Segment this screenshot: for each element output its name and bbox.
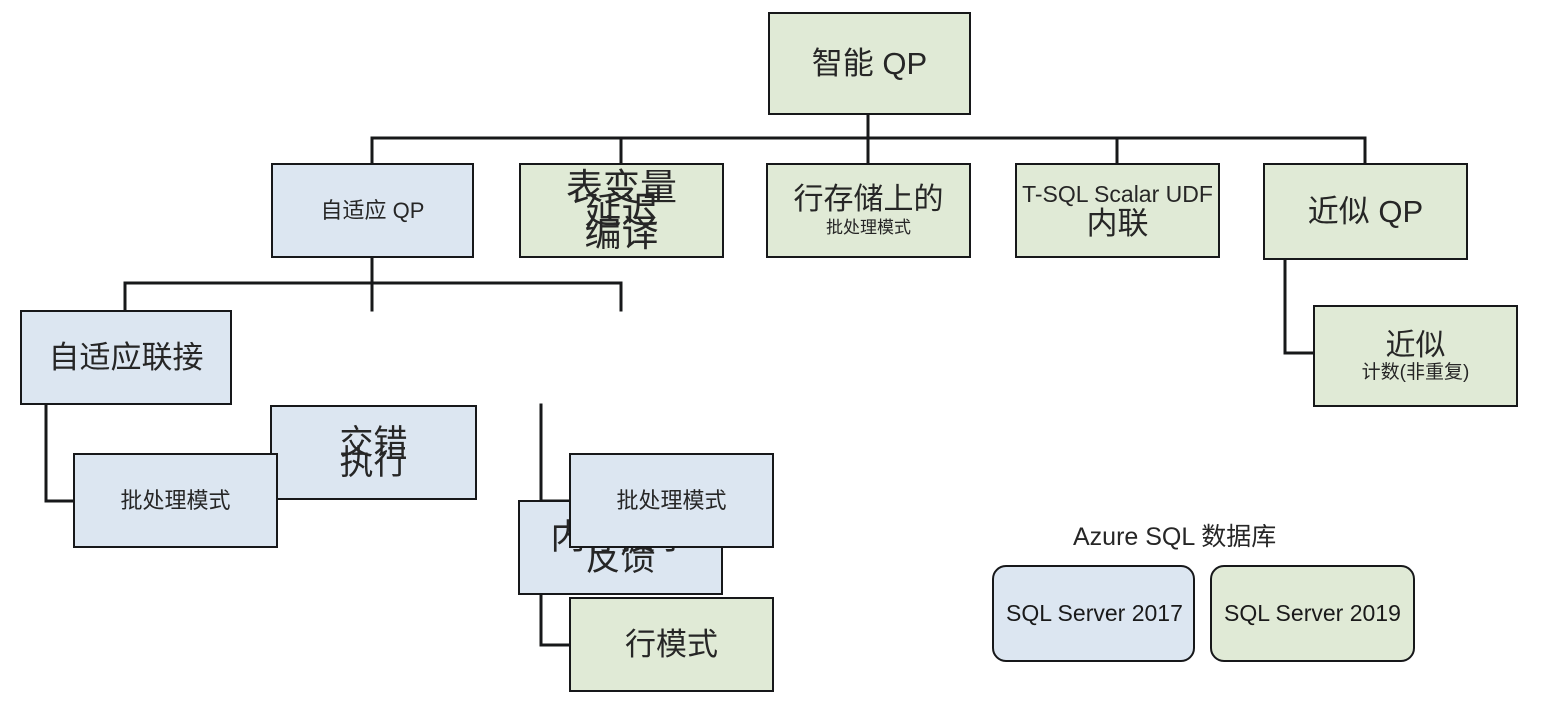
node-label: 近似 QP (1308, 196, 1423, 227)
node-label-line2: 执行 (340, 446, 408, 480)
node-table-variable-deferred-compilation[interactable]: 表变量 延迟 编译 (519, 163, 724, 258)
node-interleaved-execution[interactable]: 交错 执行 (270, 405, 477, 500)
node-batch-mode-on-rowstore[interactable]: 行存储上的 批处理模式 (766, 163, 971, 258)
diagram-canvas: 智能 QP 自适应 QP 表变量 延迟 编译 行存储上的 批处理模式 T-SQL… (0, 0, 1543, 713)
legend-item-sql-server-2019[interactable]: SQL Server 2019 (1210, 565, 1415, 662)
node-adaptive-joins[interactable]: 自适应联接 (20, 310, 232, 405)
node-label: 批处理模式 (120, 490, 230, 512)
node-label: 批处理模式 (616, 490, 726, 512)
node-label: 智能 QP (812, 48, 927, 79)
node-label: 自适应联接 (49, 342, 204, 373)
legend-item-sql-server-2017[interactable]: SQL Server 2017 (992, 565, 1195, 662)
node-label-line2: 内联 (1087, 208, 1149, 239)
node-label-line1: T-SQL Scalar UDF (1022, 183, 1213, 206)
node-memory-grant-batch-mode[interactable]: 批处理模式 (569, 453, 774, 548)
legend-item-label: SQL Server 2019 (1224, 600, 1401, 627)
node-label: 自适应 QP (321, 200, 425, 222)
legend-item-label: SQL Server 2017 (1006, 600, 1183, 627)
node-tsql-scalar-udf-inlining[interactable]: T-SQL Scalar UDF 内联 (1015, 163, 1220, 258)
node-label-line2: 批处理模式 (826, 219, 911, 236)
node-approximate-count-distinct[interactable]: 近似 计数(非重复) (1313, 305, 1518, 407)
node-adaptive-qp[interactable]: 自适应 QP (271, 163, 474, 258)
node-label-line1: 近似 (1386, 331, 1446, 361)
node-approximate-qp[interactable]: 近似 QP (1263, 163, 1468, 260)
node-intelligent-qp[interactable]: 智能 QP (768, 12, 971, 115)
node-label: 行模式 (625, 629, 718, 660)
node-memory-grant-row-mode[interactable]: 行模式 (569, 597, 774, 692)
legend-title: Azure SQL 数据库 (1073, 517, 1276, 553)
node-label-line3: 编译 (585, 215, 659, 252)
node-adaptive-joins-batch-mode[interactable]: 批处理模式 (73, 453, 278, 548)
node-label-line2: 计数(非重复) (1362, 363, 1470, 382)
node-label-line1: 行存储上的 (794, 185, 944, 215)
